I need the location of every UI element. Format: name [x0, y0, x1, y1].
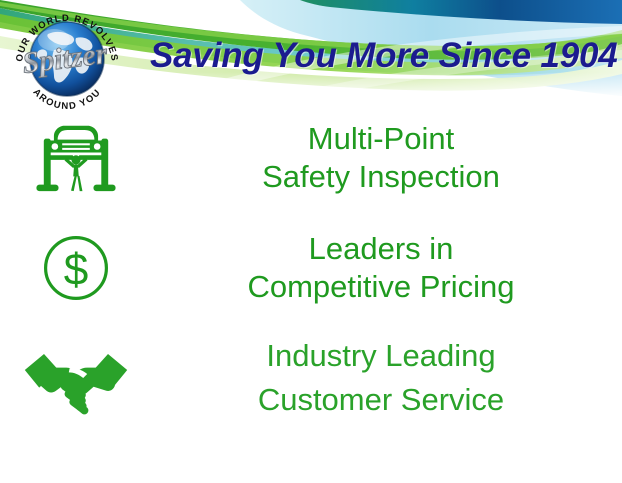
feature-line-1: Leaders in: [309, 231, 454, 266]
handshake-icon: [6, 341, 146, 415]
car-on-lift-icon: [6, 112, 146, 204]
feature-line-1: Industry Leading: [266, 338, 495, 373]
feature-line-1: Multi-Point: [308, 121, 454, 156]
page-title: Saving You More Since 1904: [150, 36, 612, 76]
feature-text-competitive-pricing: Leaders in Competitive Pricing: [146, 230, 616, 306]
logo-graphic: Spitzer OUR WORLD REVOLVES AROUND YOU: [4, 4, 130, 112]
feature-text-customer-service: Industry Leading Customer Service: [146, 334, 616, 422]
feature-line-2: Safety Inspection: [146, 158, 616, 196]
spitzer-logo: Spitzer OUR WORLD REVOLVES AROUND YOU: [4, 4, 130, 112]
slide-canvas: Spitzer OUR WORLD REVOLVES AROUND YOU Sa…: [0, 0, 622, 483]
dollar-circle-icon: $: [6, 230, 146, 306]
feature-line-2: Customer Service: [146, 378, 616, 422]
feature-text-safety-inspection: Multi-Point Safety Inspection: [146, 120, 616, 196]
dollar-circle-glyph: $: [38, 230, 114, 306]
feature-row-safety-inspection: Multi-Point Safety Inspection: [6, 104, 616, 212]
feature-row-customer-service: Industry Leading Customer Service: [6, 322, 616, 434]
handshake-glyph: [20, 341, 132, 415]
feature-row-competitive-pricing: $ Leaders in Competitive Pricing: [6, 214, 616, 322]
car-on-lift-glyph: [30, 112, 122, 204]
svg-text:$: $: [64, 246, 89, 295]
feature-line-2: Competitive Pricing: [146, 268, 616, 306]
